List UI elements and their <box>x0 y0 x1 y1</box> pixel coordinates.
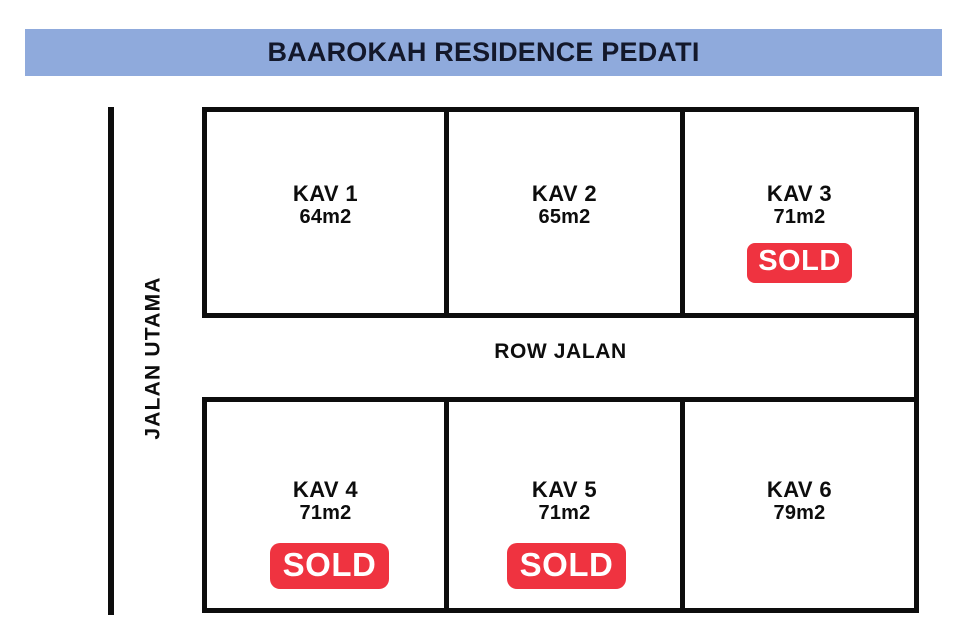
plot-area: 64m2 <box>293 206 358 229</box>
plot-area: 79m2 <box>767 502 832 525</box>
plot-kav-1[interactable]: KAV 1 64m2 <box>207 112 449 313</box>
plot-label-group: KAV 5 71m2 SOLD <box>505 477 625 589</box>
plot-label-group: KAV 6 79m2 <box>767 477 832 561</box>
status-badge: SOLD <box>747 243 852 283</box>
plot-name: KAV 4 <box>266 477 386 502</box>
plot-label-group: KAV 4 71m2 SOLD <box>266 477 386 589</box>
title-banner: BAAROKAH RESIDENCE PEDATI <box>25 29 942 76</box>
plot-name: KAV 5 <box>505 477 625 502</box>
plot-label-group: KAV 2 65m2 <box>532 181 597 259</box>
sold-badge-wrap: SOLD <box>747 229 852 283</box>
plot-kav-5[interactable]: KAV 5 71m2 SOLD <box>449 402 685 608</box>
interior-road-label: ROW JALAN <box>202 340 919 364</box>
plot-kav-6[interactable]: KAV 6 79m2 <box>685 402 914 608</box>
plot-area: 71m2 <box>505 502 625 525</box>
sold-badge-wrap: SOLD <box>507 525 627 589</box>
plot-row-bottom: KAV 4 71m2 SOLD KAV 5 71m2 SOLD KAV 6 79… <box>202 397 919 613</box>
plot-name: KAV 1 <box>293 181 358 206</box>
plot-area: 65m2 <box>532 206 597 229</box>
plot-kav-3[interactable]: KAV 3 71m2 SOLD <box>685 112 914 313</box>
plot-kav-4[interactable]: KAV 4 71m2 SOLD <box>207 402 449 608</box>
plot-label-group: KAV 3 71m2 SOLD <box>747 181 852 283</box>
plot-area: 71m2 <box>266 502 386 525</box>
plot-name: KAV 2 <box>532 181 597 206</box>
sold-badge-wrap: SOLD <box>270 525 390 589</box>
status-badge: SOLD <box>270 543 390 589</box>
plot-label-group: KAV 1 64m2 <box>293 181 358 259</box>
plot-name: KAV 6 <box>767 477 832 502</box>
main-road-label-text: JALAN UTAMA <box>142 276 166 439</box>
main-road-label: JALAN UTAMA <box>124 258 184 458</box>
page-title: BAAROKAH RESIDENCE PEDATI <box>267 37 699 68</box>
site-plan-diagram: BAAROKAH RESIDENCE PEDATI JALAN UTAMA KA… <box>0 0 968 644</box>
plot-area: 71m2 <box>747 206 852 229</box>
plot-kav-2[interactable]: KAV 2 65m2 <box>449 112 685 313</box>
plot-name: KAV 3 <box>747 181 852 206</box>
plot-row-top: KAV 1 64m2 KAV 2 65m2 KAV 3 71m2 <box>202 107 919 318</box>
main-road-line <box>108 107 114 615</box>
status-badge: SOLD <box>507 543 627 589</box>
